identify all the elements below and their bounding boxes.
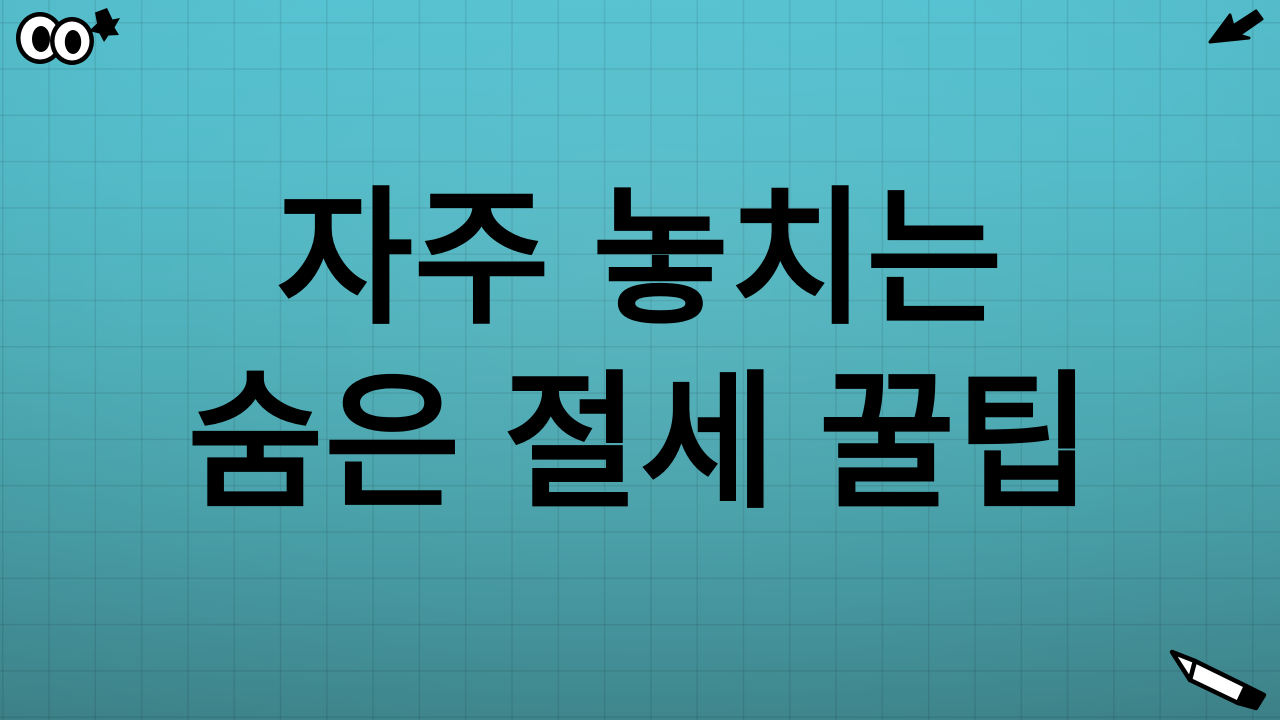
eye-right-icon — [50, 17, 94, 65]
title-slide: 자주 놓치는 숨은 절세 꿀팁 — [0, 0, 1280, 720]
page-title: 자주 놓치는 숨은 절세 꿀팁 — [0, 168, 1280, 536]
pencil-icon — [1168, 646, 1272, 712]
title-line-1: 자주 놓치는 — [0, 168, 1280, 352]
title-line-2: 숨은 절세 꿀팁 — [0, 352, 1280, 536]
googly-eyes-logo — [8, 6, 120, 68]
arrow-cursor-icon — [1206, 6, 1268, 52]
